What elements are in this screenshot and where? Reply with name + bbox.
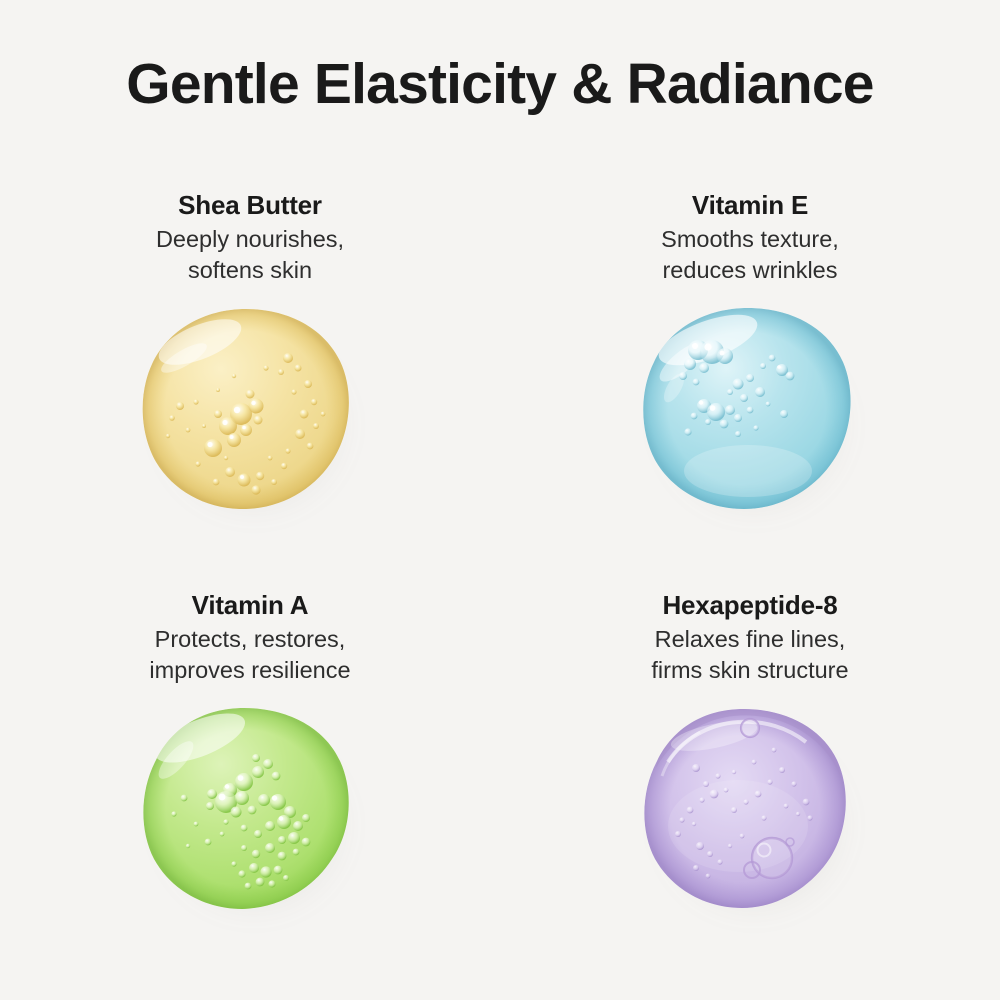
product-ingredients-infographic: Gentle Elasticity & Radiance Shea Butter… [0,0,1000,1000]
ingredient-card-hexapeptide-8: Hexapeptide-8 Relaxes fine lines, firms … [500,578,1000,978]
yellow-gel-blob [130,300,370,540]
blob-body [638,306,854,518]
page-title: Gentle Elasticity & Radiance [0,52,1000,116]
ingredient-name: Shea Butter [178,190,322,220]
ingredient-card-vitamin-a: Vitamin A Protects, restores, improves r… [0,578,500,978]
ingredient-name: Hexapeptide-8 [662,590,837,620]
ingredient-grid: Shea Butter Deeply nourishes, softens sk… [0,178,1000,978]
purple-gel-blob [630,700,870,940]
ingredient-name: Vitamin A [192,590,309,620]
blob-body [638,706,854,918]
ingredient-description: Deeply nourishes, softens skin [156,224,344,286]
blob-body [138,306,354,518]
blob-body [138,706,354,918]
blue-gel-blob [630,300,870,540]
ingredient-card-shea-butter: Shea Butter Deeply nourishes, softens sk… [0,178,500,578]
green-gel-blob [130,700,370,940]
ingredient-description: Relaxes fine lines, firms skin structure [651,624,848,686]
ingredient-description: Protects, restores, improves resilience [149,624,350,686]
ingredient-description: Smooths texture, reduces wrinkles [661,224,839,286]
ingredient-card-vitamin-e: Vitamin E Smooths texture, reduces wrink… [500,178,1000,578]
ingredient-name: Vitamin E [692,190,808,220]
